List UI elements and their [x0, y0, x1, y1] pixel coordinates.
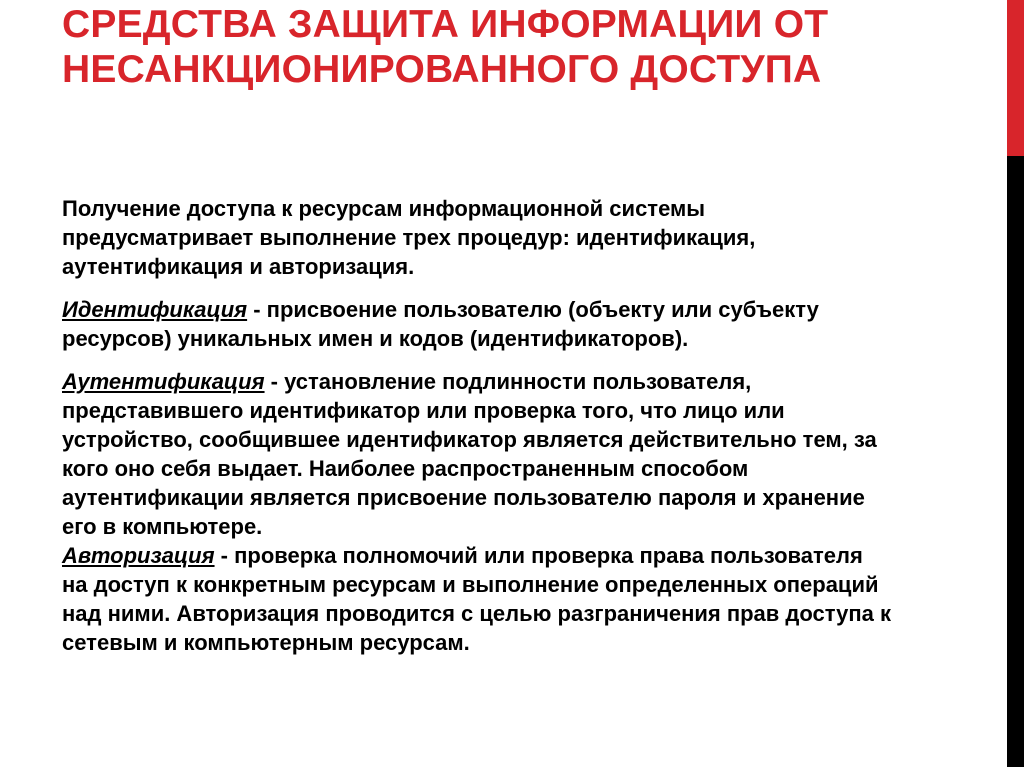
definition-authorization: Авторизация - проверка полномочий или пр… [62, 541, 892, 657]
separator-authentication: - [265, 369, 285, 394]
accent-bar-black [1007, 156, 1024, 767]
separator-authorization: - [215, 543, 235, 568]
slide-body: Получение доступа к ресурсам информацион… [62, 194, 892, 657]
term-identification: Идентификация [62, 297, 247, 322]
term-authorization: Авторизация [62, 543, 215, 568]
separator-identification: - [247, 297, 267, 322]
page-title: СРЕДСТВА ЗАЩИТА ИНФОРМАЦИИ ОТ НЕСАНКЦИОН… [62, 2, 972, 92]
definition-authentication: Аутентификация - установление подлинност… [62, 367, 892, 541]
slide: СРЕДСТВА ЗАЩИТА ИНФОРМАЦИИ ОТ НЕСАНКЦИОН… [0, 0, 1024, 767]
intro-paragraph: Получение доступа к ресурсам информацион… [62, 194, 892, 281]
term-authentication: Аутентификация [62, 369, 265, 394]
accent-bar-red [1007, 0, 1024, 156]
definition-identification: Идентификация - присвоение пользователю … [62, 295, 892, 353]
definition-text-authentication: установление подлинности пользователя, п… [62, 369, 877, 539]
